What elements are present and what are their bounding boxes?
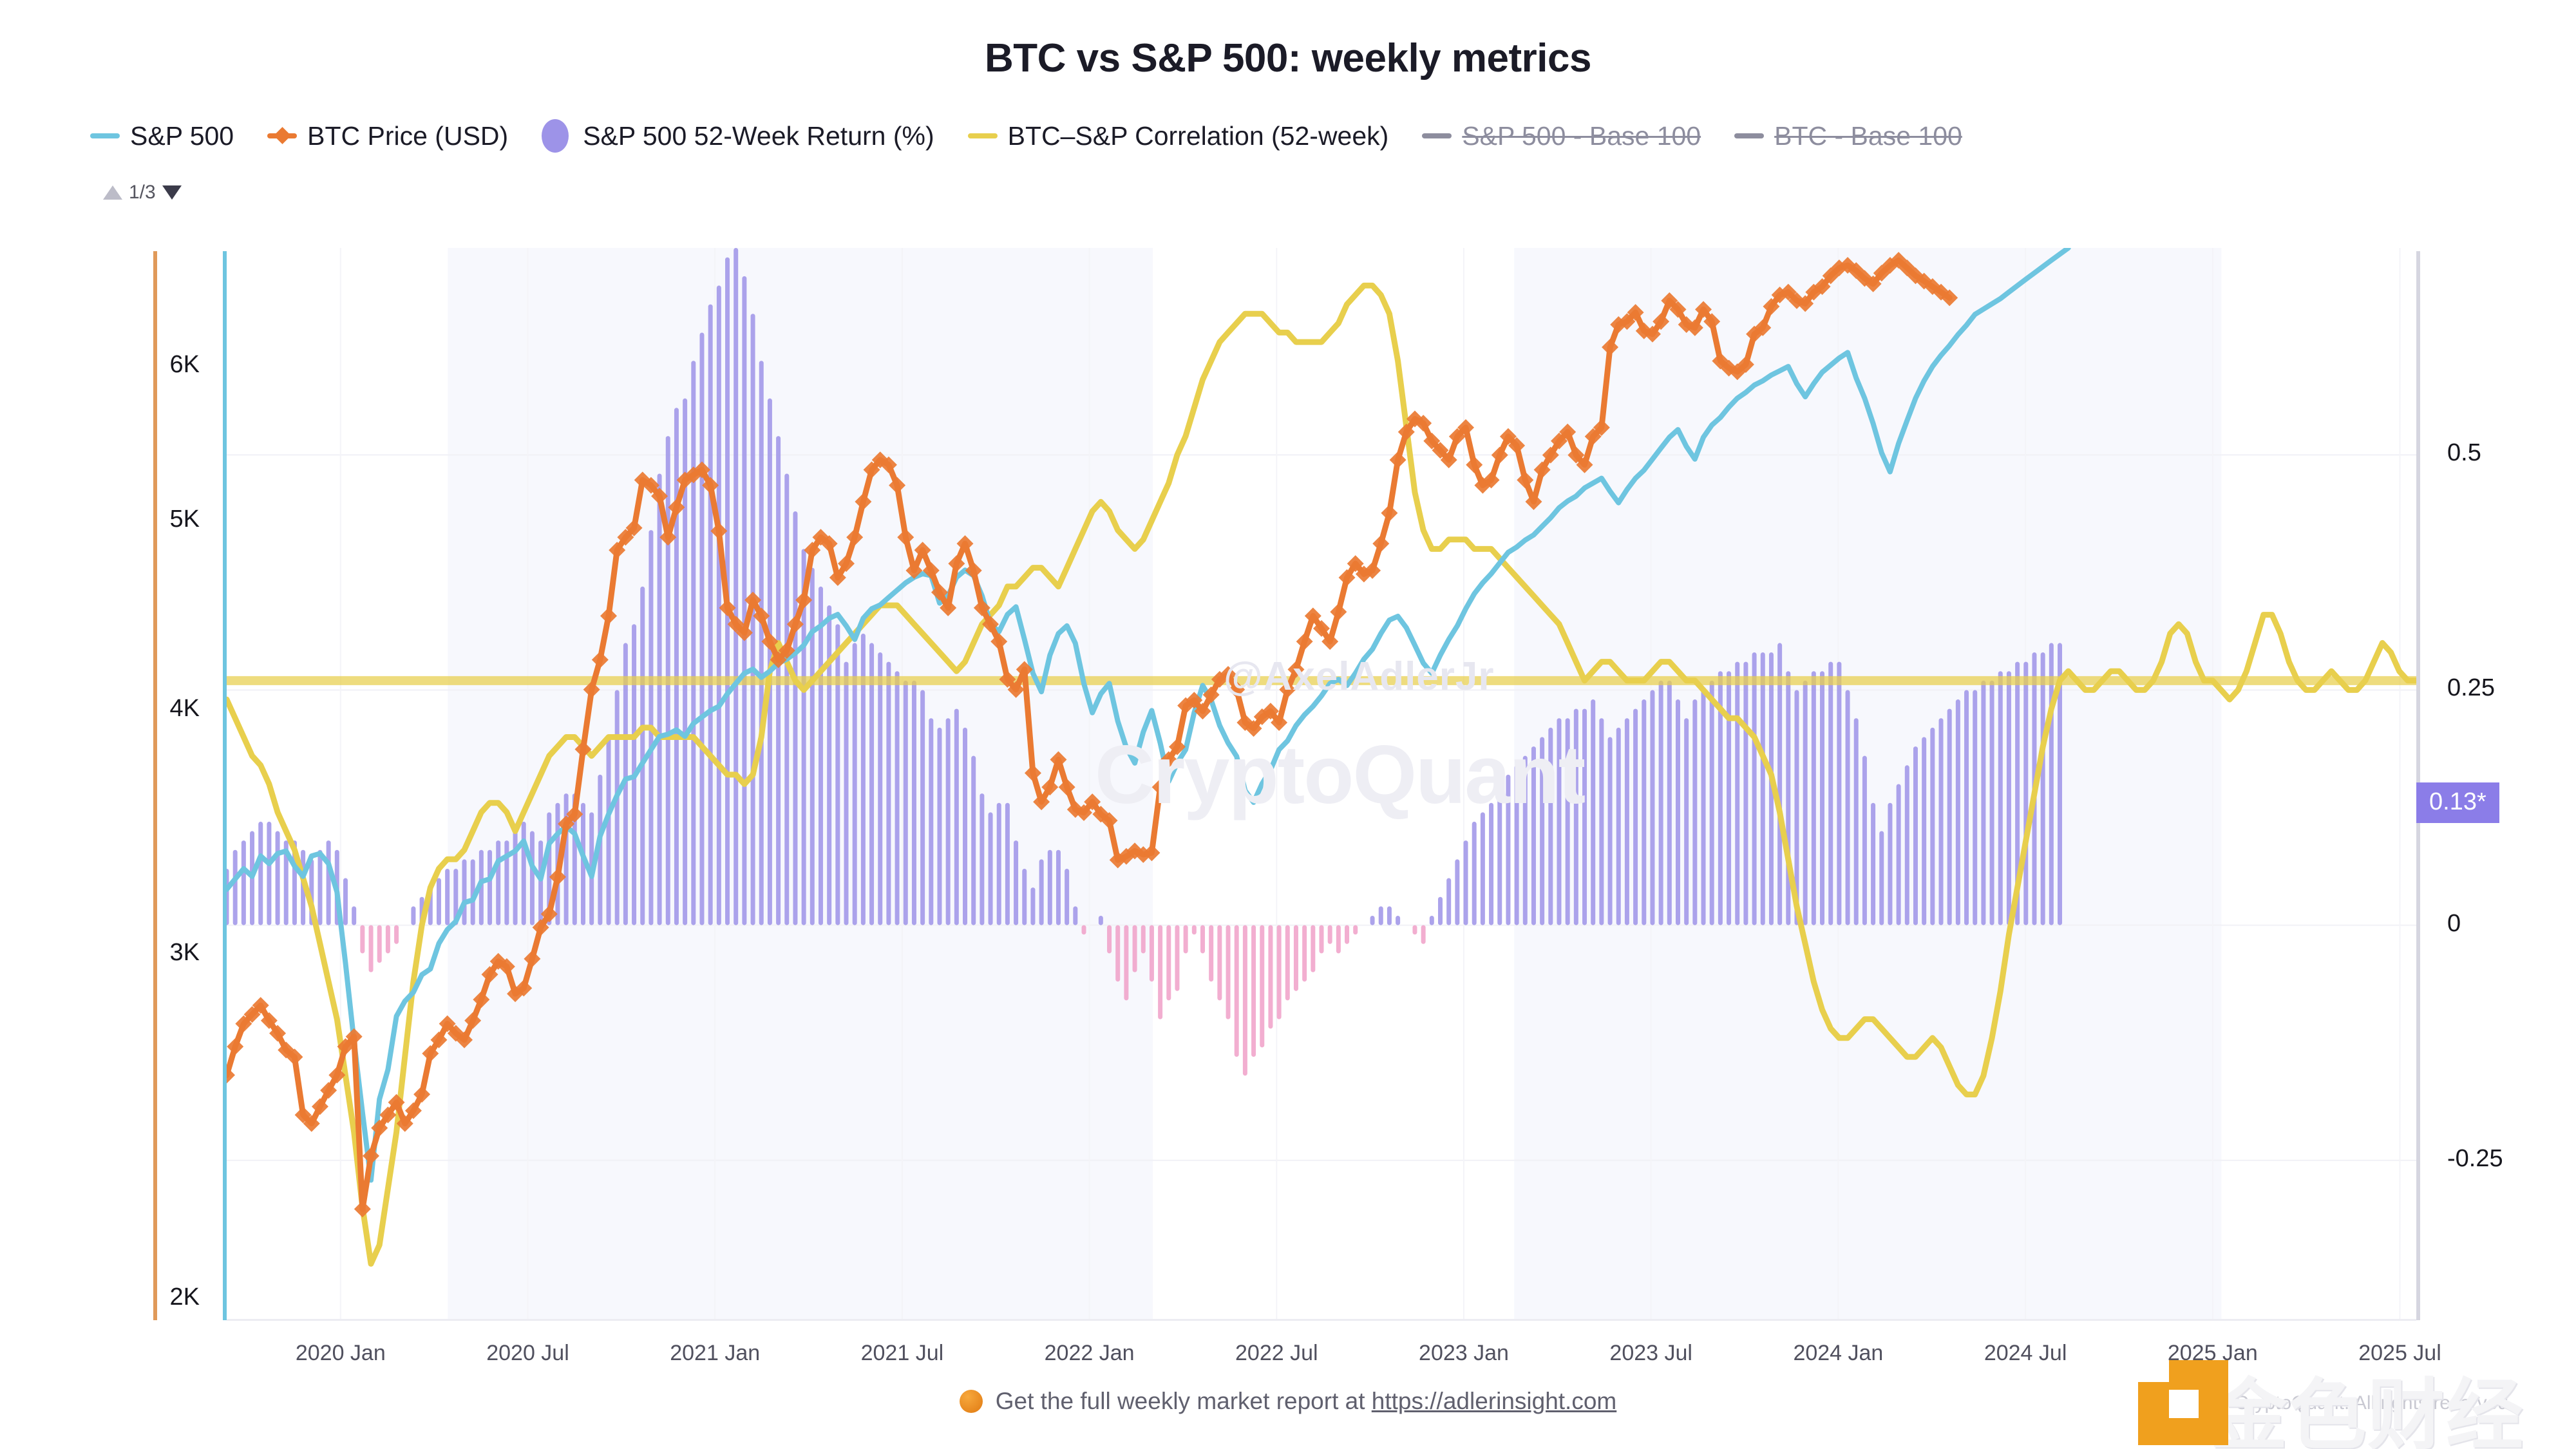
return-bar <box>233 850 238 925</box>
return-bar <box>853 643 857 925</box>
return-bar <box>1735 662 1739 925</box>
legend-item-label: S&P 500 52-Week Return (%) <box>583 121 934 151</box>
return-bar <box>699 332 704 925</box>
legend-item-5[interactable]: BTC - Base 100 <box>1734 121 1962 151</box>
x-axis-tick-label: 2020 Jul <box>486 1341 569 1366</box>
page-title: BTC vs S&P 500: weekly metrics <box>0 35 2576 81</box>
legend-item-2[interactable]: S&P 500 52-Week Return (%) <box>542 119 934 153</box>
return-bar <box>2023 662 2028 925</box>
return-bar <box>1294 925 1298 991</box>
x-axis-tick-label: 2021 Jul <box>861 1341 944 1366</box>
return-bar <box>1930 728 1935 925</box>
x-axis-tick-label: 2024 Jan <box>1793 1341 1883 1366</box>
return-bar <box>971 756 976 925</box>
return-bar <box>1353 925 1358 935</box>
return-bar <box>352 906 356 925</box>
legend-item-label: BTC Price (USD) <box>307 121 508 151</box>
return-bar <box>1625 718 1629 925</box>
footer-text-label: Get the full weekly market report at <box>996 1388 1372 1414</box>
btc-price-marker <box>1372 535 1389 552</box>
return-bar <box>1235 925 1239 1057</box>
legend-line-icon <box>968 133 998 138</box>
return-bar <box>1913 746 1918 925</box>
tick-spx-label: 2K <box>170 1283 200 1311</box>
return-bar <box>1446 878 1451 925</box>
return-bar <box>1014 840 1018 925</box>
return-bar <box>980 793 984 925</box>
return-bar <box>1599 718 1604 925</box>
return-bar <box>1472 822 1477 925</box>
sp500-axis-line <box>223 251 227 1320</box>
return-bar <box>1481 812 1485 925</box>
return-bar <box>1065 869 1069 925</box>
return-bar <box>793 511 797 925</box>
legend-item-1[interactable]: BTC Price (USD) <box>267 121 508 151</box>
return-bar <box>1396 916 1400 925</box>
return-bar <box>997 803 1001 925</box>
return-bar <box>1056 850 1061 925</box>
return-bar <box>1141 925 1146 954</box>
return-bar <box>1633 709 1638 925</box>
return-bar <box>784 474 789 925</box>
return-bar <box>2041 652 2045 925</box>
return-bar <box>946 718 951 925</box>
return-bar <box>1192 925 1197 935</box>
tick-corr-label: 0.5 <box>2447 439 2481 467</box>
x-axis-tick-label: 2023 Jan <box>1419 1341 1509 1366</box>
return-bar <box>1285 925 1290 1001</box>
return-bar <box>937 728 942 925</box>
return-bar <box>1642 699 1646 925</box>
return-bar <box>445 869 450 925</box>
return-bar <box>394 925 399 944</box>
return-bar <box>1133 925 1137 972</box>
return-bar <box>810 568 815 925</box>
return-bar <box>920 690 925 925</box>
legend-item-label: S&P 500 - Base 100 <box>1462 121 1701 151</box>
return-bar <box>538 840 543 925</box>
return-bar <box>1226 925 1231 1019</box>
return-bar <box>1701 690 1706 925</box>
x-axis-tick-label: 2022 Jul <box>1235 1341 1318 1366</box>
return-bar <box>1048 850 1052 925</box>
return-bar <box>989 812 993 925</box>
tick-spx-label: 5K <box>170 506 200 533</box>
bitcoin-dot-icon <box>960 1390 983 1413</box>
legend-item-label: BTC - Base 100 <box>1774 121 1962 151</box>
return-bar <box>360 925 365 954</box>
return-bar <box>1260 925 1264 1048</box>
return-bar <box>1905 765 1909 925</box>
return-bar <box>1082 925 1086 935</box>
btc-price-marker <box>1296 633 1313 650</box>
return-bar <box>1879 831 1884 925</box>
return-bar <box>734 248 738 925</box>
return-bar <box>267 822 271 925</box>
return-bar <box>1200 925 1205 954</box>
return-bar <box>1692 699 1697 925</box>
return-bar <box>1370 916 1375 925</box>
return-bar <box>462 859 466 925</box>
legend-dot-icon <box>542 119 569 153</box>
return-bar <box>1379 906 1383 925</box>
return-bar <box>717 285 721 925</box>
return-bar <box>886 662 891 925</box>
return-bar <box>1956 699 1960 925</box>
return-bar <box>1922 737 1926 925</box>
return-bar <box>1268 925 1273 1029</box>
return-bar <box>929 718 933 925</box>
return-bar <box>1752 652 1757 925</box>
return-bar <box>1455 859 1459 925</box>
return-bar <box>386 925 390 954</box>
triangle-down-icon[interactable] <box>162 185 182 200</box>
x-axis-line <box>227 1319 2416 1321</box>
return-bar <box>522 822 526 925</box>
return-bar <box>1964 690 1969 925</box>
return-bar <box>1251 925 1256 1057</box>
return-bar <box>759 361 764 925</box>
return-bar <box>327 840 331 925</box>
return-bar <box>1277 925 1282 1019</box>
report-link[interactable]: https://adlerinsight.com <box>1372 1388 1616 1414</box>
return-bar <box>411 906 415 925</box>
legend-item-label: BTC–S&P Correlation (52-week) <box>1008 121 1389 151</box>
return-bar <box>437 878 441 925</box>
tick-spx-label: 3K <box>170 939 200 967</box>
return-bar <box>1973 690 1977 925</box>
legend-pager[interactable]: 1/3 <box>103 182 182 204</box>
return-bar <box>1939 718 1944 925</box>
x-axis-tick-label: 2022 Jan <box>1045 1341 1135 1366</box>
return-bar <box>615 690 620 925</box>
watermark-handle: @AxelAdlerJr <box>1224 654 1495 699</box>
return-bar <box>369 925 374 972</box>
return-bar <box>1667 681 1672 925</box>
return-bar <box>835 624 840 925</box>
return-bar <box>1158 925 1162 1019</box>
return-bar <box>912 681 916 925</box>
return-bar <box>963 728 967 925</box>
return-bar <box>819 587 823 925</box>
return-bar <box>1616 728 1621 925</box>
return-bar <box>1430 916 1434 925</box>
return-bar <box>1320 925 1324 954</box>
return-bar <box>691 361 696 925</box>
btc-price-marker <box>1390 451 1406 468</box>
btc-price-axis-line <box>153 251 157 1320</box>
btc-price-marker <box>1381 505 1397 522</box>
return-bar <box>1412 925 1417 935</box>
return-bar <box>1387 906 1392 925</box>
return-bar <box>377 925 382 963</box>
return-bar <box>1328 925 1332 944</box>
return-bar <box>1897 784 1901 925</box>
tick-corr-label: 0.25 <box>2447 674 2495 702</box>
return-bar <box>227 869 229 925</box>
return-bar <box>607 737 611 925</box>
legend-item-4[interactable]: S&P 500 - Base 100 <box>1422 121 1701 151</box>
return-bar <box>1837 662 1841 925</box>
return-bar <box>1743 662 1748 925</box>
legend-line-icon <box>1734 133 1764 138</box>
legend-item-0[interactable]: S&P 500 <box>90 121 234 151</box>
return-bar <box>1803 681 1808 925</box>
return-bar <box>1421 925 1426 944</box>
return-bar <box>1608 737 1613 925</box>
return-bar <box>1888 803 1892 925</box>
legend-item-3[interactable]: BTC–S&P Correlation (52-week) <box>968 121 1389 151</box>
pager-label: 1/3 <box>129 182 156 204</box>
return-bar <box>1777 643 1782 925</box>
return-bar <box>844 662 849 925</box>
return-bar <box>1217 925 1222 1001</box>
btc-price-marker <box>1492 447 1508 464</box>
return-bar <box>1184 925 1188 954</box>
return-bar <box>1302 925 1307 982</box>
return-bar <box>1030 887 1035 925</box>
return-bar <box>1175 925 1179 991</box>
return-bar <box>1005 803 1010 925</box>
x-axis-tick-label: 2021 Jan <box>670 1341 760 1366</box>
brand-chinese-text: 金色财经 <box>2210 1352 2524 1449</box>
return-bar <box>904 681 908 925</box>
return-bar <box>1862 756 1867 925</box>
x-axis-tick-label: 2020 Jan <box>296 1341 386 1366</box>
return-bar <box>1676 699 1680 925</box>
correlation-current-badge: 0.13* <box>2416 782 2499 823</box>
return-bar <box>1591 699 1595 925</box>
return-bar <box>1209 925 1213 982</box>
return-bar <box>1947 709 1952 925</box>
chart-page: BTC vs S&P 500: weekly metrics S&P 500BT… <box>0 0 2576 1449</box>
return-bar <box>1107 925 1112 954</box>
x-axis-tick-label: 2024 Jul <box>1984 1341 2067 1366</box>
return-bar <box>1727 671 1731 925</box>
return-bar <box>1684 718 1689 925</box>
return-bar <box>1166 925 1171 1001</box>
return-bar <box>1311 925 1315 972</box>
return-bar <box>1990 681 1994 925</box>
return-bar <box>1039 859 1044 925</box>
return-bar <box>496 840 500 925</box>
return-bar <box>1998 671 2003 925</box>
return-bar <box>1820 671 1824 925</box>
tick-corr-label: 0 <box>2447 910 2461 938</box>
return-bar <box>1786 671 1790 925</box>
return-bar <box>1854 718 1859 925</box>
return-bar <box>1812 671 1816 925</box>
return-bar <box>1650 690 1654 925</box>
return-bar <box>1099 916 1103 925</box>
return-bar <box>751 314 755 925</box>
chart-legend: S&P 500BTC Price (USD)S&P 500 52-Week Re… <box>90 119 1996 153</box>
return-bar <box>954 709 959 925</box>
return-bar <box>674 408 679 925</box>
return-bar <box>1336 925 1341 954</box>
return-bar <box>1243 925 1247 1076</box>
return-bar <box>827 605 831 925</box>
legend-item-label: S&P 500 <box>130 121 234 151</box>
return-bar <box>258 822 263 925</box>
return-bar <box>241 840 246 925</box>
return-bar <box>1345 925 1349 944</box>
tick-spx-label: 6K <box>170 351 200 379</box>
triangle-up-icon[interactable] <box>103 185 122 200</box>
return-bar <box>1022 869 1027 925</box>
return-bar <box>1871 803 1875 925</box>
footer-text: Get the full weekly market report at htt… <box>996 1388 1616 1415</box>
return-bar <box>869 643 874 925</box>
tick-corr-label: -0.25 <box>2447 1145 2503 1173</box>
return-bar <box>1124 925 1128 1001</box>
return-bar <box>895 671 900 925</box>
return-bar <box>708 305 713 925</box>
legend-line-icon <box>90 133 120 138</box>
return-bar <box>1073 906 1077 925</box>
return-bar <box>488 850 492 925</box>
return-bar <box>2007 671 2011 925</box>
return-bar <box>1761 652 1765 925</box>
watermark-brand: CryptoQuant <box>1095 728 1584 822</box>
legend-line-icon <box>1422 133 1452 138</box>
return-bar <box>343 878 348 925</box>
return-bar <box>530 831 535 925</box>
x-axis-tick-label: 2023 Jul <box>1609 1341 1692 1366</box>
return-bar <box>1659 681 1663 925</box>
return-bar <box>1710 681 1714 925</box>
return-bar <box>276 831 280 925</box>
btc-price-marker <box>354 1200 371 1217</box>
return-bar <box>1115 925 1120 982</box>
btc-price-marker <box>1466 457 1482 473</box>
return-bar <box>658 474 662 925</box>
return-bar <box>1150 925 1154 982</box>
return-bar <box>878 652 882 925</box>
btc-price-marker <box>227 1038 243 1055</box>
return-bar <box>317 850 322 925</box>
legend-diamond-icon <box>267 126 297 146</box>
return-bar <box>1981 681 1985 925</box>
return-bar <box>2049 643 2054 925</box>
return-bar <box>1438 897 1443 925</box>
return-bar <box>1828 662 1833 925</box>
btc-price-marker <box>1330 603 1347 620</box>
tick-spx-label: 4K <box>170 695 200 723</box>
return-bar <box>1464 840 1468 925</box>
return-bar <box>1846 690 1850 925</box>
jinse-logo-icon <box>2138 1360 2228 1445</box>
